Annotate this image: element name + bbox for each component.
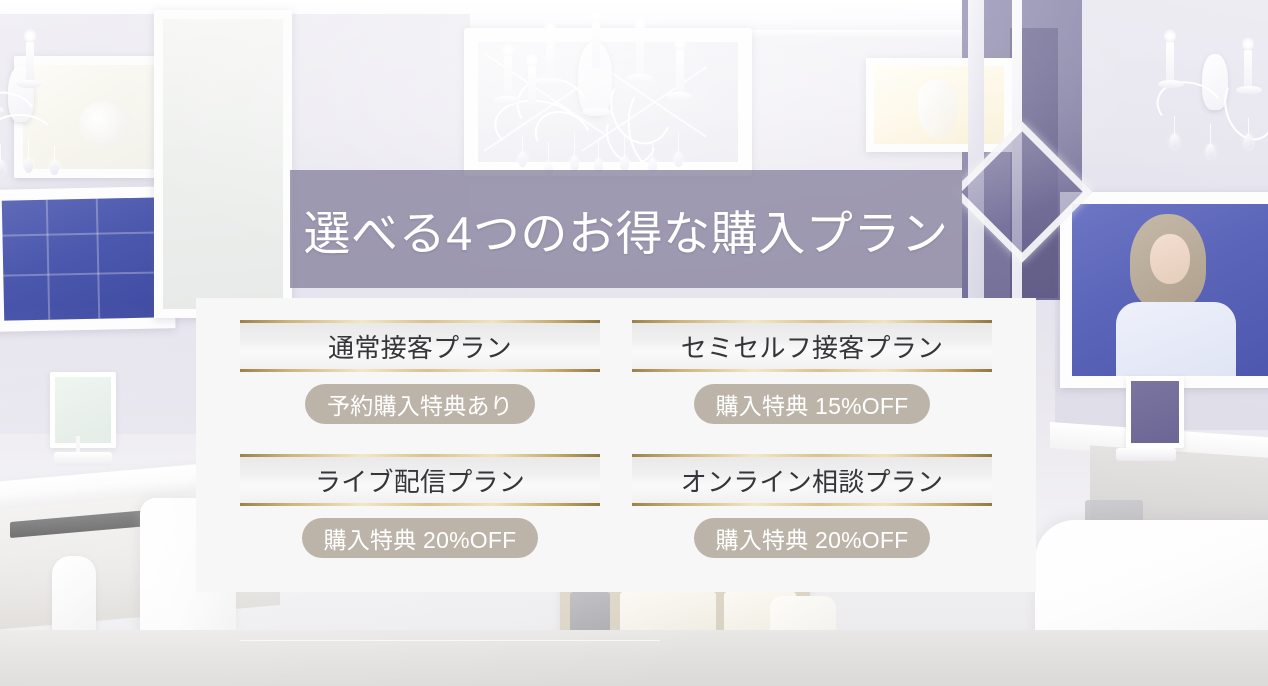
plan-title: ライブ配信プラン xyxy=(315,462,525,499)
table-mirror-icon xyxy=(50,372,116,448)
floor-seam xyxy=(240,640,660,641)
plan-benefit-badge: 購入特典 20%OFF xyxy=(694,518,931,558)
plan-card-header: セミセルフ接客プラン xyxy=(632,320,992,372)
table-mirror-icon xyxy=(1126,376,1184,448)
chandelier-icon xyxy=(1148,20,1268,200)
plan-card-live-stream[interactable]: ライブ配信プラン 購入特典 20%OFF xyxy=(240,454,600,576)
plan-benefit-badge: 購入特典 20%OFF xyxy=(302,518,539,558)
plan-title: オンライン相談プラン xyxy=(681,462,944,499)
plan-card-semi-self[interactable]: セミセルフ接客プラン 購入特典 15%OFF xyxy=(632,320,992,442)
plan-benefit-badge: 購入特典 15%OFF xyxy=(694,384,931,424)
framed-window-picture-icon xyxy=(0,186,175,332)
chandelier-icon xyxy=(0,26,116,196)
plan-card-standard[interactable]: 通常接客プラン 予約購入特典あり xyxy=(240,320,600,442)
framed-model-photo-icon xyxy=(1060,192,1268,388)
mirror-strip xyxy=(968,0,984,300)
plan-benefit-badge: 予約購入特典あり xyxy=(305,384,535,424)
plan-card-header: オンライン相談プラン xyxy=(632,454,992,506)
plan-card-header: ライブ配信プラン xyxy=(240,454,600,506)
promo-banner-stage: 選べる4つのお得な購入プラン 通常接客プラン 予約購入特典あり セミセルフ接客プ… xyxy=(0,0,1268,686)
plan-card-online-consult[interactable]: オンライン相談プラン 購入特典 20%OFF xyxy=(632,454,992,576)
headline-text: 選べる4つのお得な購入プラン xyxy=(303,195,948,264)
plan-card-header: 通常接客プラン xyxy=(240,320,600,372)
plan-title: セミセルフ接客プラン xyxy=(681,328,944,365)
niche-vase-picture-icon xyxy=(866,58,1012,152)
chandelier-icon xyxy=(470,0,720,190)
table-mirror-base xyxy=(54,452,112,466)
plans-grid: 通常接客プラン 予約購入特典あり セミセルフ接客プラン 購入特典 15%OFF … xyxy=(196,298,1036,592)
plan-title: 通常接客プラン xyxy=(328,328,512,365)
table-mirror-base xyxy=(1116,448,1176,461)
floor xyxy=(0,630,1268,686)
tall-wall-mirror-icon xyxy=(154,10,292,318)
plans-panel: 通常接客プラン 予約購入特典あり セミセルフ接客プラン 購入特典 15%OFF … xyxy=(196,298,1036,592)
headline-banner: 選べる4つのお得な購入プラン xyxy=(290,170,962,288)
